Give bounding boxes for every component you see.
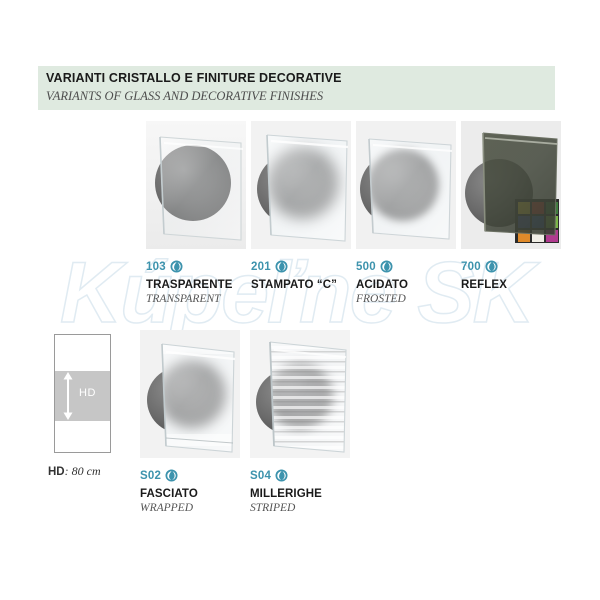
hd-band-label: HD <box>79 387 96 399</box>
finish-card-acidato[interactable]: 500 ACIDATO FROSTED <box>356 121 456 305</box>
swatch-clear-glass <box>146 121 246 249</box>
swatch-bronze-mirror-glass <box>461 121 561 249</box>
finish-code: 201 <box>251 261 271 273</box>
finish-card-trasparente[interactable]: 103 TRASPARENTE TRANSPARENT <box>146 121 246 305</box>
finish-card-millerighe[interactable]: S04 MILLERIGHE STRIPED <box>250 330 350 514</box>
finish-code: 103 <box>146 261 166 273</box>
swatch-frosted-glass <box>356 121 456 249</box>
finish-name-en: WRAPPED <box>140 502 240 514</box>
swatch-patterned-glass <box>251 121 351 249</box>
finish-name-en: STRIPED <box>250 502 350 514</box>
hd-band: HD <box>55 371 110 421</box>
banded-glass-with-sphere-icon <box>140 330 240 458</box>
frosted-glass-with-sphere-icon <box>356 121 456 249</box>
finish-card-reflex[interactable]: 700 REFLEX <box>461 121 561 293</box>
water-drop-icon <box>165 469 178 482</box>
finish-name-it: ACIDATO <box>356 279 456 291</box>
hd-double-arrow-icon <box>61 371 75 421</box>
finish-name-it: MILLERIGHE <box>250 488 350 500</box>
section-header-band: VARIANTI CRISTALLO E FINITURE DECORATIVE… <box>38 66 555 110</box>
swatch-banded-glass <box>140 330 240 458</box>
finish-name-it: STAMPATO “C” <box>251 279 351 291</box>
hd-caption-rest: : 80 cm <box>65 464 101 478</box>
code-line: S02 <box>140 468 240 483</box>
swatch-striped-glass <box>250 330 350 458</box>
page-title: VARIANTI CRISTALLO E FINITURE DECORATIVE <box>46 71 342 85</box>
hd-dimension-figure: HD HD: 80 cm <box>54 334 111 479</box>
code-line: S04 <box>250 468 350 483</box>
code-line: 700 <box>461 259 561 274</box>
hd-panel-outline: HD <box>54 334 111 453</box>
code-line: 500 <box>356 259 456 274</box>
striped-glass-with-sphere-icon <box>250 330 350 458</box>
finish-code: S02 <box>140 470 161 482</box>
water-drop-icon <box>380 260 393 273</box>
patterned-glass-with-sphere-icon <box>251 121 351 249</box>
finish-name-en: FROSTED <box>356 293 456 305</box>
water-drop-icon <box>170 260 183 273</box>
finish-code: 700 <box>461 261 481 273</box>
water-drop-icon <box>275 260 288 273</box>
finish-card-stampato-c[interactable]: 201 STAMPATO “C” <box>251 121 351 293</box>
finish-code: 500 <box>356 261 376 273</box>
code-line: 103 <box>146 259 246 274</box>
page-subtitle: VARIANTS OF GLASS AND DECORATIVE FINISHE… <box>46 89 323 104</box>
water-drop-icon <box>485 260 498 273</box>
clear-glass-with-sphere-icon <box>146 121 246 249</box>
hd-caption: HD: 80 cm <box>48 464 111 479</box>
finish-name-it: TRASPARENTE <box>146 279 246 291</box>
finish-name-it: FASCIATO <box>140 488 240 500</box>
finish-card-fasciato[interactable]: S02 FASCIATO WRAPPED <box>140 330 240 514</box>
finish-code: S04 <box>250 470 271 482</box>
bronze-mirror-glass-with-colorchecker-icon <box>461 121 561 249</box>
finish-name-it: REFLEX <box>461 279 561 291</box>
finish-name-en: TRANSPARENT <box>146 293 246 305</box>
hd-caption-bold: HD <box>48 466 65 478</box>
water-drop-icon <box>275 469 288 482</box>
code-line: 201 <box>251 259 351 274</box>
